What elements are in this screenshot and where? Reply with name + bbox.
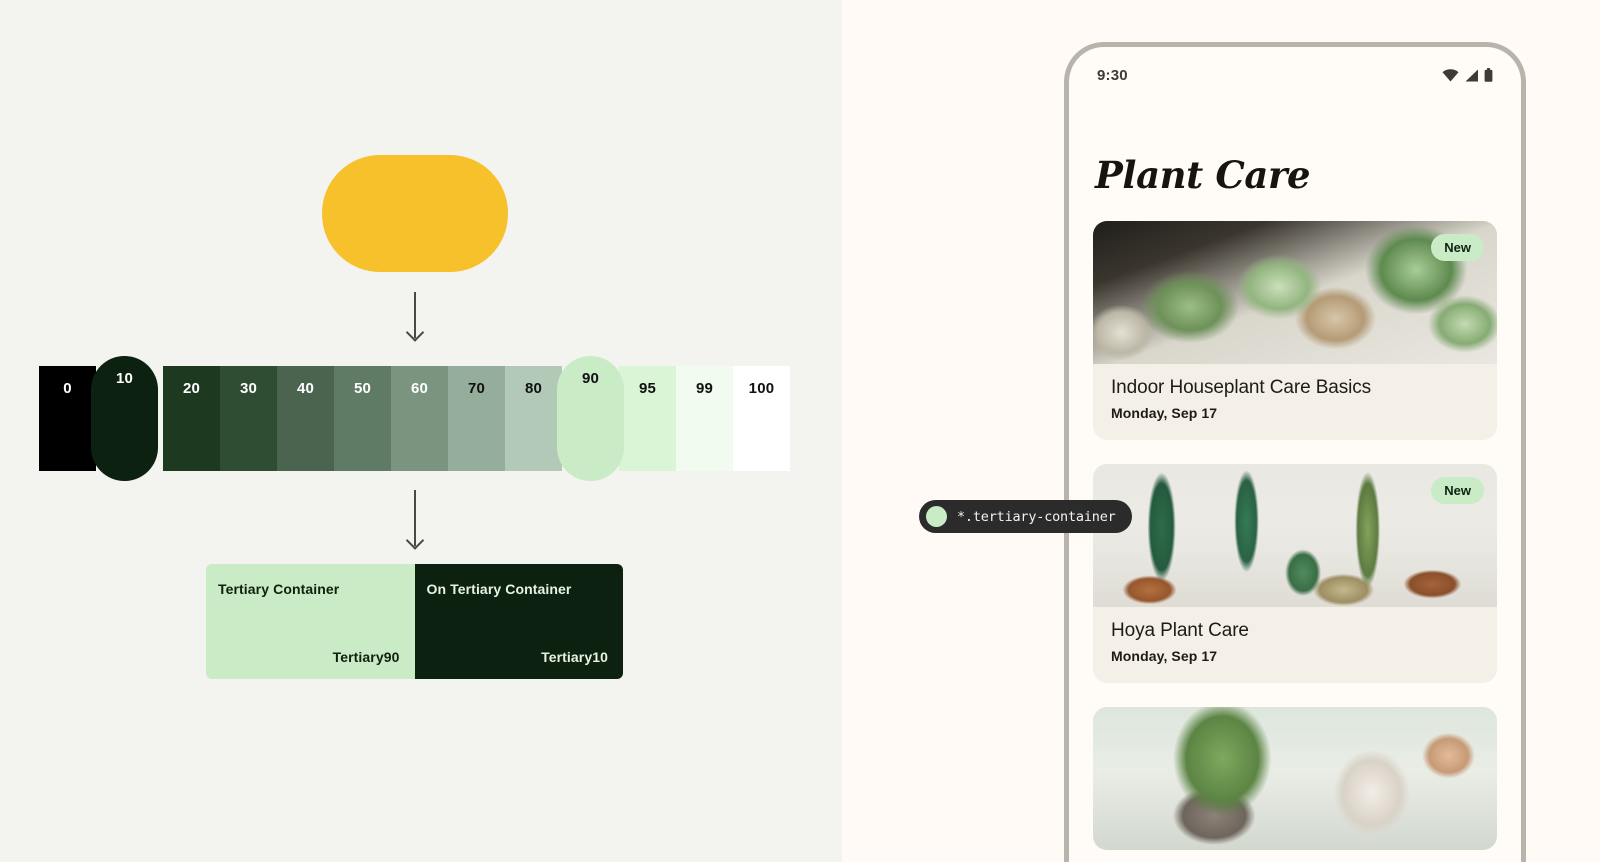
tone-swatch-50[interactable]: 50	[334, 366, 391, 471]
tone-swatch-label: 99	[696, 380, 713, 397]
token-tooltip[interactable]: *.tertiary-container	[919, 500, 1132, 533]
tone-swatch-99[interactable]: 99	[676, 366, 733, 471]
color-role-name: Tertiary Container	[218, 581, 400, 597]
tone-swatch-label: 20	[183, 380, 200, 397]
article-card[interactable]	[1093, 707, 1497, 850]
page-title: Plant Care	[1095, 153, 1497, 197]
tone-swatch-40[interactable]: 40	[277, 366, 334, 471]
card-date: Monday, Sep 17	[1111, 405, 1479, 421]
tone-swatch-label: 30	[240, 380, 257, 397]
battery-icon	[1484, 68, 1493, 82]
tone-swatch-60[interactable]: 60	[391, 366, 448, 471]
tone-swatch-100[interactable]: 100	[733, 366, 790, 471]
tone-swatch-label: 100	[749, 380, 775, 397]
card-title: Indoor Houseplant Care Basics	[1111, 377, 1479, 399]
tone-swatch-label: 10	[116, 370, 133, 387]
color-role-box[interactable]: On Tertiary ContainerTertiary10	[415, 564, 624, 679]
tone-swatch-0[interactable]: 0	[39, 366, 96, 471]
article-card[interactable]: NewHoya Plant CareMonday, Sep 17	[1093, 464, 1497, 683]
card-image: New	[1093, 221, 1497, 364]
tertiary-container-roles: Tertiary ContainerTertiary90On Tertiary …	[206, 564, 623, 679]
tone-swatch-80[interactable]: 80	[505, 366, 562, 471]
status-badge: New	[1431, 477, 1484, 504]
article-card[interactable]: NewIndoor Houseplant Care BasicsMonday, …	[1093, 221, 1497, 440]
tone-swatch-20[interactable]: 20	[163, 366, 220, 471]
tone-swatch-30[interactable]: 30	[220, 366, 277, 471]
tone-swatch-90[interactable]: 90	[557, 356, 624, 481]
color-role-name: On Tertiary Container	[427, 581, 609, 597]
card-title: Hoya Plant Care	[1111, 620, 1479, 642]
arrow-down-palette-to-roles	[414, 490, 416, 546]
tooltip-token-label: *.tertiary-container	[957, 509, 1116, 525]
status-icons	[1442, 68, 1493, 82]
card-image	[1093, 707, 1497, 850]
tone-swatch-10[interactable]: 10	[91, 356, 158, 481]
tone-swatch-label: 50	[354, 380, 371, 397]
status-bar: 9:30	[1093, 47, 1497, 103]
palette-panel: 01020304050607080909599100 Tertiary Cont…	[0, 0, 842, 862]
tooltip-color-swatch-icon	[926, 506, 947, 527]
color-role-tone-label: Tertiary90	[218, 649, 400, 665]
tone-swatch-label: 70	[468, 380, 485, 397]
tertiary-tonal-palette: 01020304050607080909599100	[39, 366, 790, 471]
signal-icon	[1464, 69, 1479, 82]
phone-mockup: 9:30 Plant Care	[1064, 42, 1526, 862]
card-body: Hoya Plant CareMonday, Sep 17	[1093, 607, 1497, 683]
card-body: Indoor Houseplant Care BasicsMonday, Sep…	[1093, 364, 1497, 440]
arrow-down-source-to-palette	[414, 292, 416, 338]
watering-plant-photo	[1093, 707, 1497, 850]
preview-panel: 9:30 Plant Care	[842, 0, 1600, 862]
tone-swatch-label: 40	[297, 380, 314, 397]
status-badge: New	[1431, 234, 1484, 261]
tone-swatch-70[interactable]: 70	[448, 366, 505, 471]
tone-swatch-label: 60	[411, 380, 428, 397]
source-color-swatch[interactable]	[322, 155, 508, 272]
status-time: 9:30	[1097, 67, 1128, 84]
wifi-icon	[1442, 69, 1459, 82]
article-card-list: NewIndoor Houseplant Care BasicsMonday, …	[1093, 221, 1497, 850]
tone-swatch-label: 95	[639, 380, 656, 397]
tone-swatch-label: 80	[525, 380, 542, 397]
tone-swatch-95[interactable]: 95	[619, 366, 676, 471]
card-date: Monday, Sep 17	[1111, 648, 1479, 664]
tone-swatch-label: 0	[63, 380, 72, 397]
screenshot-stage: 01020304050607080909599100 Tertiary Cont…	[0, 0, 1600, 862]
color-role-tone-label: Tertiary10	[427, 649, 609, 665]
tone-swatch-label: 90	[582, 370, 599, 387]
card-image: New	[1093, 464, 1497, 607]
color-role-box[interactable]: Tertiary ContainerTertiary90	[206, 564, 415, 679]
